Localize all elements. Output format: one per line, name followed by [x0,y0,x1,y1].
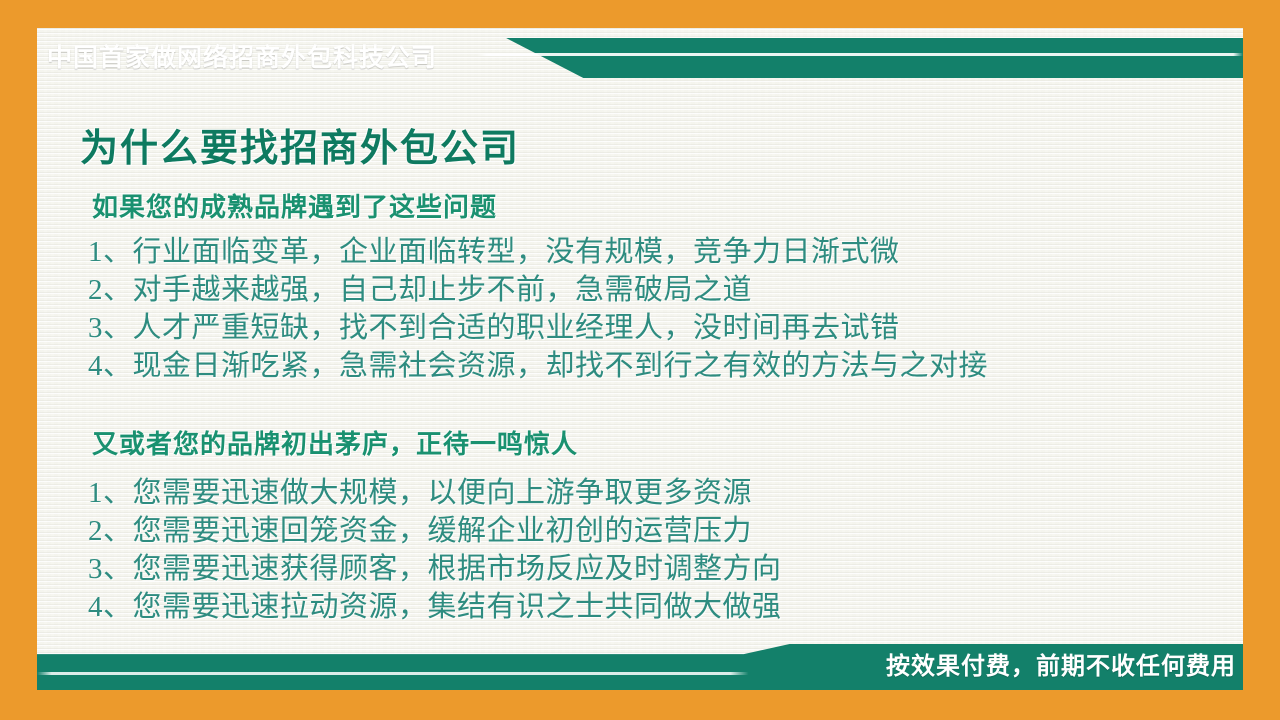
list-item: 3、您需要迅速获得顾客，根据市场反应及时调整方向 [88,550,782,588]
list-item: 2、您需要迅速回笼资金，缓解企业初创的运营压力 [88,512,782,550]
list-item: 3、人才严重短缺，找不到合适的职业经理人，没时间再去试错 [88,309,988,347]
section-heading-2: 又或者您的品牌初出茅庐，正待一鸣惊人 [92,424,578,461]
section-heading-1: 如果您的成熟品牌遇到了这些问题 [92,187,497,224]
list-item: 4、您需要迅速拉动资源，集结有识之士共同做大做强 [88,588,782,626]
problem-list-2: 1、您需要迅速做大规模，以便向上游争取更多资源 2、您需要迅速回笼资金，缓解企业… [88,474,782,626]
footer-tagline: 按效果付费，前期不收任何费用 [886,650,1236,684]
problem-list-1: 1、行业面临变革，企业面临转型，没有规模，竞争力日渐式微 2、对手越来越强，自己… [88,233,988,385]
page-title: 为什么要找招商外包公司 [80,117,520,172]
list-item: 1、行业面临变革，企业面临转型，没有规模，竞争力日渐式微 [88,233,988,271]
header-title: 中国首家做网络招商外包科技公司 [47,40,437,76]
slide-root: 中国首家做网络招商外包科技公司 为什么要找招商外包公司 如果您的成熟品牌遇到了这… [0,0,1280,720]
list-item: 1、您需要迅速做大规模，以便向上游争取更多资源 [88,474,782,512]
list-item: 4、现金日渐吃紧，急需社会资源，却找不到行之有效的方法与之对接 [88,347,988,385]
list-item: 2、对手越来越强，自己却止步不前，急需破局之道 [88,271,988,309]
